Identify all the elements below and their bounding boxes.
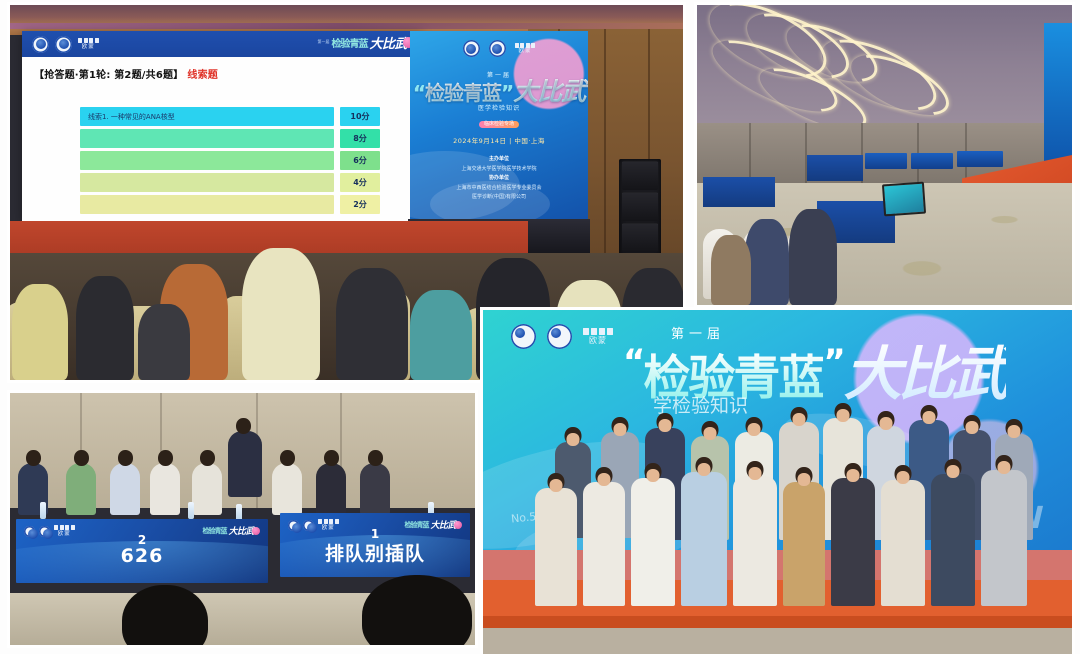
- cohost-line-1: 上海市中西医结合检验医学专业委员会: [456, 185, 541, 191]
- water-bottle: [188, 502, 194, 519]
- water-bottle: [40, 502, 46, 519]
- table-row: 线索1. 一种常见的ANA核型 10分: [80, 107, 380, 126]
- backdrop-organizers: 主办单位 上海交通大学医学院医学技术学院 协办单位 上海市中西医结合检验医学专业…: [410, 155, 588, 203]
- clue-text-cell: [80, 173, 334, 192]
- host-label: 主办单位: [410, 155, 588, 165]
- clue-text-cell: 线索1. 一种常见的ANA核型: [80, 107, 334, 126]
- score-cell: 6分: [340, 151, 380, 170]
- slide-header: 欧蒙 第一届 检验青蓝 大比武: [22, 31, 422, 57]
- brand-name-label: 欧蒙: [518, 49, 531, 55]
- photo-collage: 欧蒙 第一届 检验青蓝 大比武 【抢答题·第1轮: 第2题/共6题】线索题: [0, 0, 1080, 654]
- stage-led-screen: [1044, 23, 1072, 163]
- audience-table: [807, 155, 863, 181]
- contestant: [360, 463, 390, 515]
- hospital-emblem-icon: [32, 36, 49, 53]
- projection-screen: 欧蒙 第一届 检验青蓝 大比武 【抢答题·第1轮: 第2题/共6题】线索题: [22, 31, 422, 221]
- medical-emblem-icon: [55, 36, 72, 53]
- quote-close: ”: [823, 342, 843, 382]
- audience-table: [703, 177, 775, 207]
- audience-member: [410, 290, 472, 380]
- foreground-audience-head: [362, 575, 472, 645]
- clue-text-cell: [80, 151, 334, 170]
- team-table: [911, 153, 953, 169]
- contestant: [110, 463, 140, 515]
- photo-contestant-tables[interactable]: 欧蒙 检验青蓝 大比武 2 626 欧蒙 检验青: [10, 393, 475, 645]
- score-cell: 2分: [340, 195, 380, 214]
- clue-text-cell: [80, 195, 334, 214]
- quote-open: “: [413, 81, 425, 105]
- group-member: [931, 474, 975, 606]
- team-desk: 欧蒙 检验青蓝 大比武 2 626: [16, 519, 268, 583]
- group-member: [831, 478, 875, 606]
- audience-member: [711, 235, 751, 305]
- quote-open: “: [623, 342, 643, 382]
- group-member: [583, 482, 625, 606]
- audience-member: [138, 304, 190, 380]
- team-desk: 欧蒙 检验青蓝 大比武 1 排队别插队: [280, 513, 470, 577]
- group-member: [631, 478, 675, 606]
- audience-member: [789, 209, 837, 305]
- desk-team-name: 排队别插队: [280, 539, 470, 566]
- corner-quote-title: 检验青蓝: [331, 35, 367, 50]
- clue-type-tag: 线索题: [187, 70, 218, 81]
- desk-team-name: 626: [16, 545, 268, 567]
- euroimmun-brand-icon: 欧蒙: [78, 38, 99, 50]
- table-row: 6分: [80, 151, 380, 170]
- table-row: 4分: [80, 173, 380, 192]
- hospital-emblem-icon: [511, 324, 536, 349]
- hospital-emblem-icon: [463, 40, 480, 57]
- team-table: [865, 153, 907, 169]
- audience-member: [242, 248, 320, 380]
- group-member: [535, 488, 577, 606]
- clue-text-cell: [80, 129, 334, 148]
- score-cell: 8分: [340, 129, 380, 148]
- backdrop-logo-row: 欧蒙: [511, 324, 613, 349]
- corner-first-label: 第一届: [317, 39, 329, 44]
- backdrop-title-block: 第一届 “检验青蓝”大比武 医学检验知识 临床检验专场: [410, 73, 588, 128]
- contestant: [316, 463, 346, 515]
- backdrop-subtitle: 医学检验知识: [410, 106, 588, 112]
- group-member: [783, 482, 825, 606]
- slide-body: 【抢答题·第1轮: 第2题/共6题】线索题 线索1. 一种常见的ANA核型 10…: [22, 57, 422, 221]
- cohost-line-2: 医学诊断(中国)有限公司: [472, 194, 526, 200]
- audience-member: [336, 268, 408, 380]
- group-member: [881, 480, 925, 606]
- table-row: 8分: [80, 129, 380, 148]
- contestant: [272, 463, 302, 515]
- euroimmun-brand-icon: 欧蒙: [583, 328, 613, 345]
- slide-question-line: 【抢答题·第1轮: 第2题/共6题】线索题: [34, 66, 410, 81]
- corner-big-title: 大比武: [369, 33, 407, 52]
- score-cell: 10分: [340, 107, 380, 126]
- audience-member: [12, 284, 68, 380]
- cohost-label: 协办单位: [410, 174, 588, 184]
- brand-name-label: 欧蒙: [82, 45, 95, 51]
- moderator: [228, 431, 262, 497]
- group-member: [681, 472, 727, 606]
- photo-venue-overview[interactable]: [697, 5, 1072, 305]
- group-member: [981, 470, 1027, 606]
- euroimmun-brand-icon: 欧蒙: [515, 43, 536, 55]
- medical-emblem-icon: [547, 324, 572, 349]
- medical-emblem-icon: [489, 40, 506, 57]
- brand-name-label: 欧蒙: [589, 337, 607, 345]
- foreground-audience-head: [122, 585, 208, 645]
- table-row: 2分: [80, 195, 380, 214]
- score-cell: 4分: [340, 173, 380, 192]
- clue-score-table: 线索1. 一种常见的ANA核型 10分 8分 6分 4分: [80, 107, 380, 214]
- backdrop-date-line: 2024年9月14日 | 中国·上海: [410, 135, 588, 145]
- audience-member: [76, 276, 134, 380]
- contestant: [150, 463, 180, 515]
- backdrop-session-pill: 临床检验专场: [479, 121, 519, 128]
- photo-group-shot[interactable]: 欧蒙 第一届 “检验青蓝”大比武 学检验知识 CCW No.52 +: [483, 310, 1072, 654]
- contestant: [66, 463, 96, 515]
- audience-member: [745, 219, 789, 305]
- backdrop-title-block: 第一届 “检验青蓝”大比武 学检验知识: [623, 328, 1006, 416]
- host-name: 上海交通大学医学院医学技术学院: [461, 166, 536, 172]
- backdrop-title-big: 大比武: [513, 77, 585, 106]
- group-member: [733, 476, 777, 606]
- backdrop-title-quoted: 检验青蓝: [425, 81, 501, 105]
- event-backdrop: 欧蒙 第一届 “检验青蓝”大比武 医学检验知识 临床检验专场 2024年9月14…: [410, 31, 588, 226]
- team-table: [957, 151, 1003, 167]
- backdrop-main-title: “检验青蓝”大比武: [410, 79, 588, 104]
- backdrop-logo-row: 欧蒙: [410, 40, 588, 57]
- slide-corner-logo: 第一届 检验青蓝 大比武: [317, 33, 414, 52]
- ceiling: [697, 5, 1072, 127]
- backdrop-title-big: 大比武: [844, 340, 1006, 408]
- confidence-monitor: [882, 182, 926, 217]
- question-label: 【抢答题·第1轮: 第2题/共6题】: [34, 70, 183, 81]
- quote-close: ”: [501, 81, 513, 105]
- contestant: [192, 463, 222, 515]
